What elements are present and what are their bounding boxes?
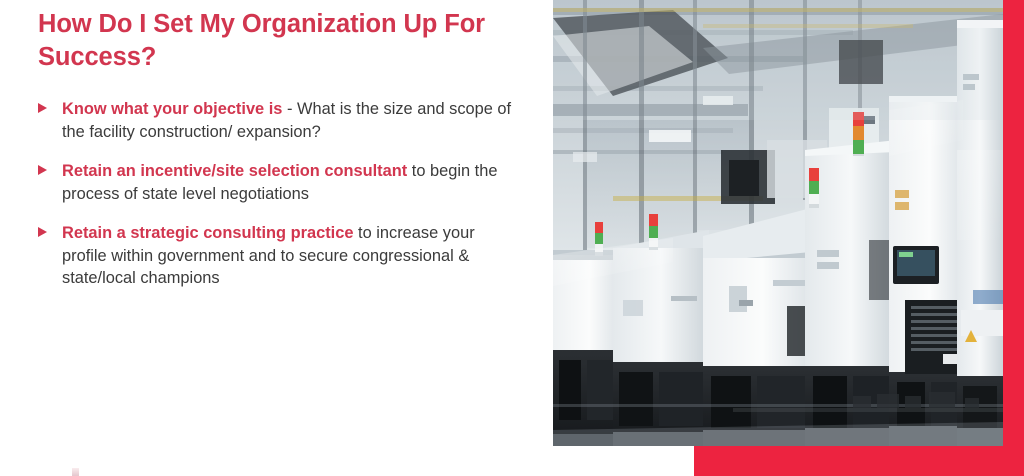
bullet-lead-text: Retain a strategic consulting practice [62,224,353,242]
bullet-list: Know what your objective is - What is th… [36,98,516,290]
list-item: Retain a strategic consulting practice t… [36,222,516,290]
triangle-right-icon [38,103,47,113]
semiconductor-fab-cleanroom-photo [553,0,1003,446]
cleanroom-illustration [553,0,1003,446]
list-item: Retain an incentive/site selection consu… [36,160,516,205]
red-accent-band-bottom [694,445,1024,476]
bullet-lead-text: Know what your objective is [62,100,282,118]
bullet-lead-text: Retain an incentive/site selection consu… [62,162,407,180]
cropped-footer-mark [72,468,79,476]
triangle-right-icon [38,227,47,237]
page-title: How Do I Set My Organization Up For Succ… [38,8,508,74]
list-item: Know what your objective is - What is th… [36,98,516,143]
slide-canvas: How Do I Set My Organization Up For Succ… [0,0,1024,476]
triangle-right-icon [38,165,47,175]
red-accent-band-right [1002,0,1024,476]
text-column: How Do I Set My Organization Up For Succ… [0,0,540,476]
